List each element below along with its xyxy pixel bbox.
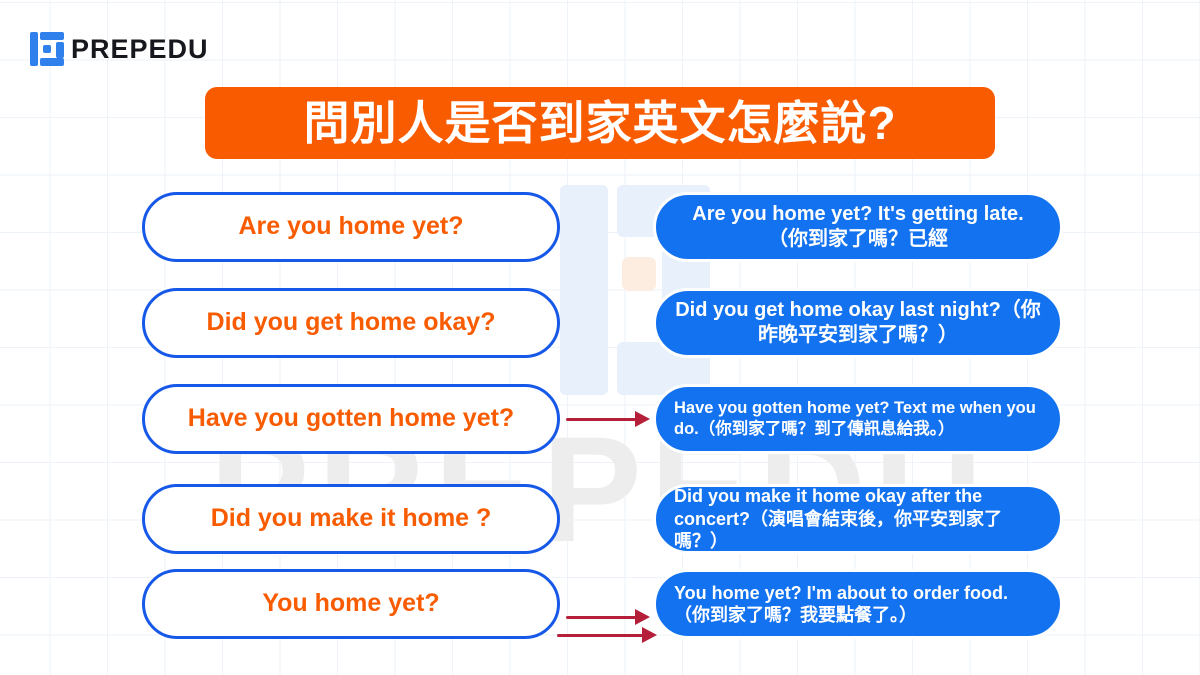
example-pill[interactable]: Did you get home okay last night?（你昨晚平安到… (653, 288, 1063, 358)
phrase-label: Did you make it home ? (211, 505, 492, 533)
brand-logo-text: PREPEDU (71, 36, 209, 63)
example-pill[interactable]: Are you home yet? It's getting late.（你到家… (653, 192, 1063, 262)
infographic-canvas: PREPEDU PREPEDU 問別人是否到家英文怎麼說? Are you ho… (0, 0, 1200, 675)
phrase-row: Did you get home okay? Did you get home … (0, 288, 1200, 358)
phrase-pill[interactable]: Are you home yet? (142, 192, 560, 262)
connector-arrow (557, 624, 657, 646)
example-pill[interactable]: Have you gotten home yet? Text me when y… (653, 384, 1063, 454)
phrase-label: Have you gotten home yet? (188, 405, 514, 433)
phrase-label: You home yet? (262, 590, 439, 618)
phrase-row: Are you home yet? Are you home yet? It's… (0, 192, 1200, 262)
phrase-label: Are you home yet? (238, 213, 463, 241)
page-title: 問別人是否到家英文怎麼說? (303, 100, 896, 146)
example-label: Did you get home okay last night?（你昨晚平安到… (674, 298, 1042, 348)
example-label: Did you make it home okay after the conc… (674, 485, 1042, 553)
phrase-label: Did you get home okay? (207, 309, 496, 337)
brand-logo: PREPEDU (30, 32, 209, 66)
example-label: Are you home yet? It's getting late.（你到家… (674, 202, 1042, 252)
phrase-pill[interactable]: Did you get home okay? (142, 288, 560, 358)
example-pill[interactable]: Did you make it home okay after the conc… (653, 484, 1063, 554)
prepedu-logo-icon (30, 32, 64, 66)
phrase-pill[interactable]: Did you make it home ? (142, 484, 560, 554)
phrase-row: You home yet? You home yet? I'm about to… (0, 569, 1200, 639)
phrase-row: Did you make it home ? Did you make it h… (0, 484, 1200, 554)
phrase-pill[interactable]: You home yet? (142, 569, 560, 639)
phrase-row: Have you gotten home yet? Have you gotte… (0, 384, 1200, 454)
example-label: Have you gotten home yet? Text me when y… (674, 398, 1042, 439)
example-pill[interactable]: You home yet? I'm about to order food.（你… (653, 569, 1063, 639)
example-label: You home yet? I'm about to order food.（你… (674, 582, 1042, 627)
title-banner: 問別人是否到家英文怎麼說? (205, 87, 995, 159)
phrase-pill[interactable]: Have you gotten home yet? (142, 384, 560, 454)
